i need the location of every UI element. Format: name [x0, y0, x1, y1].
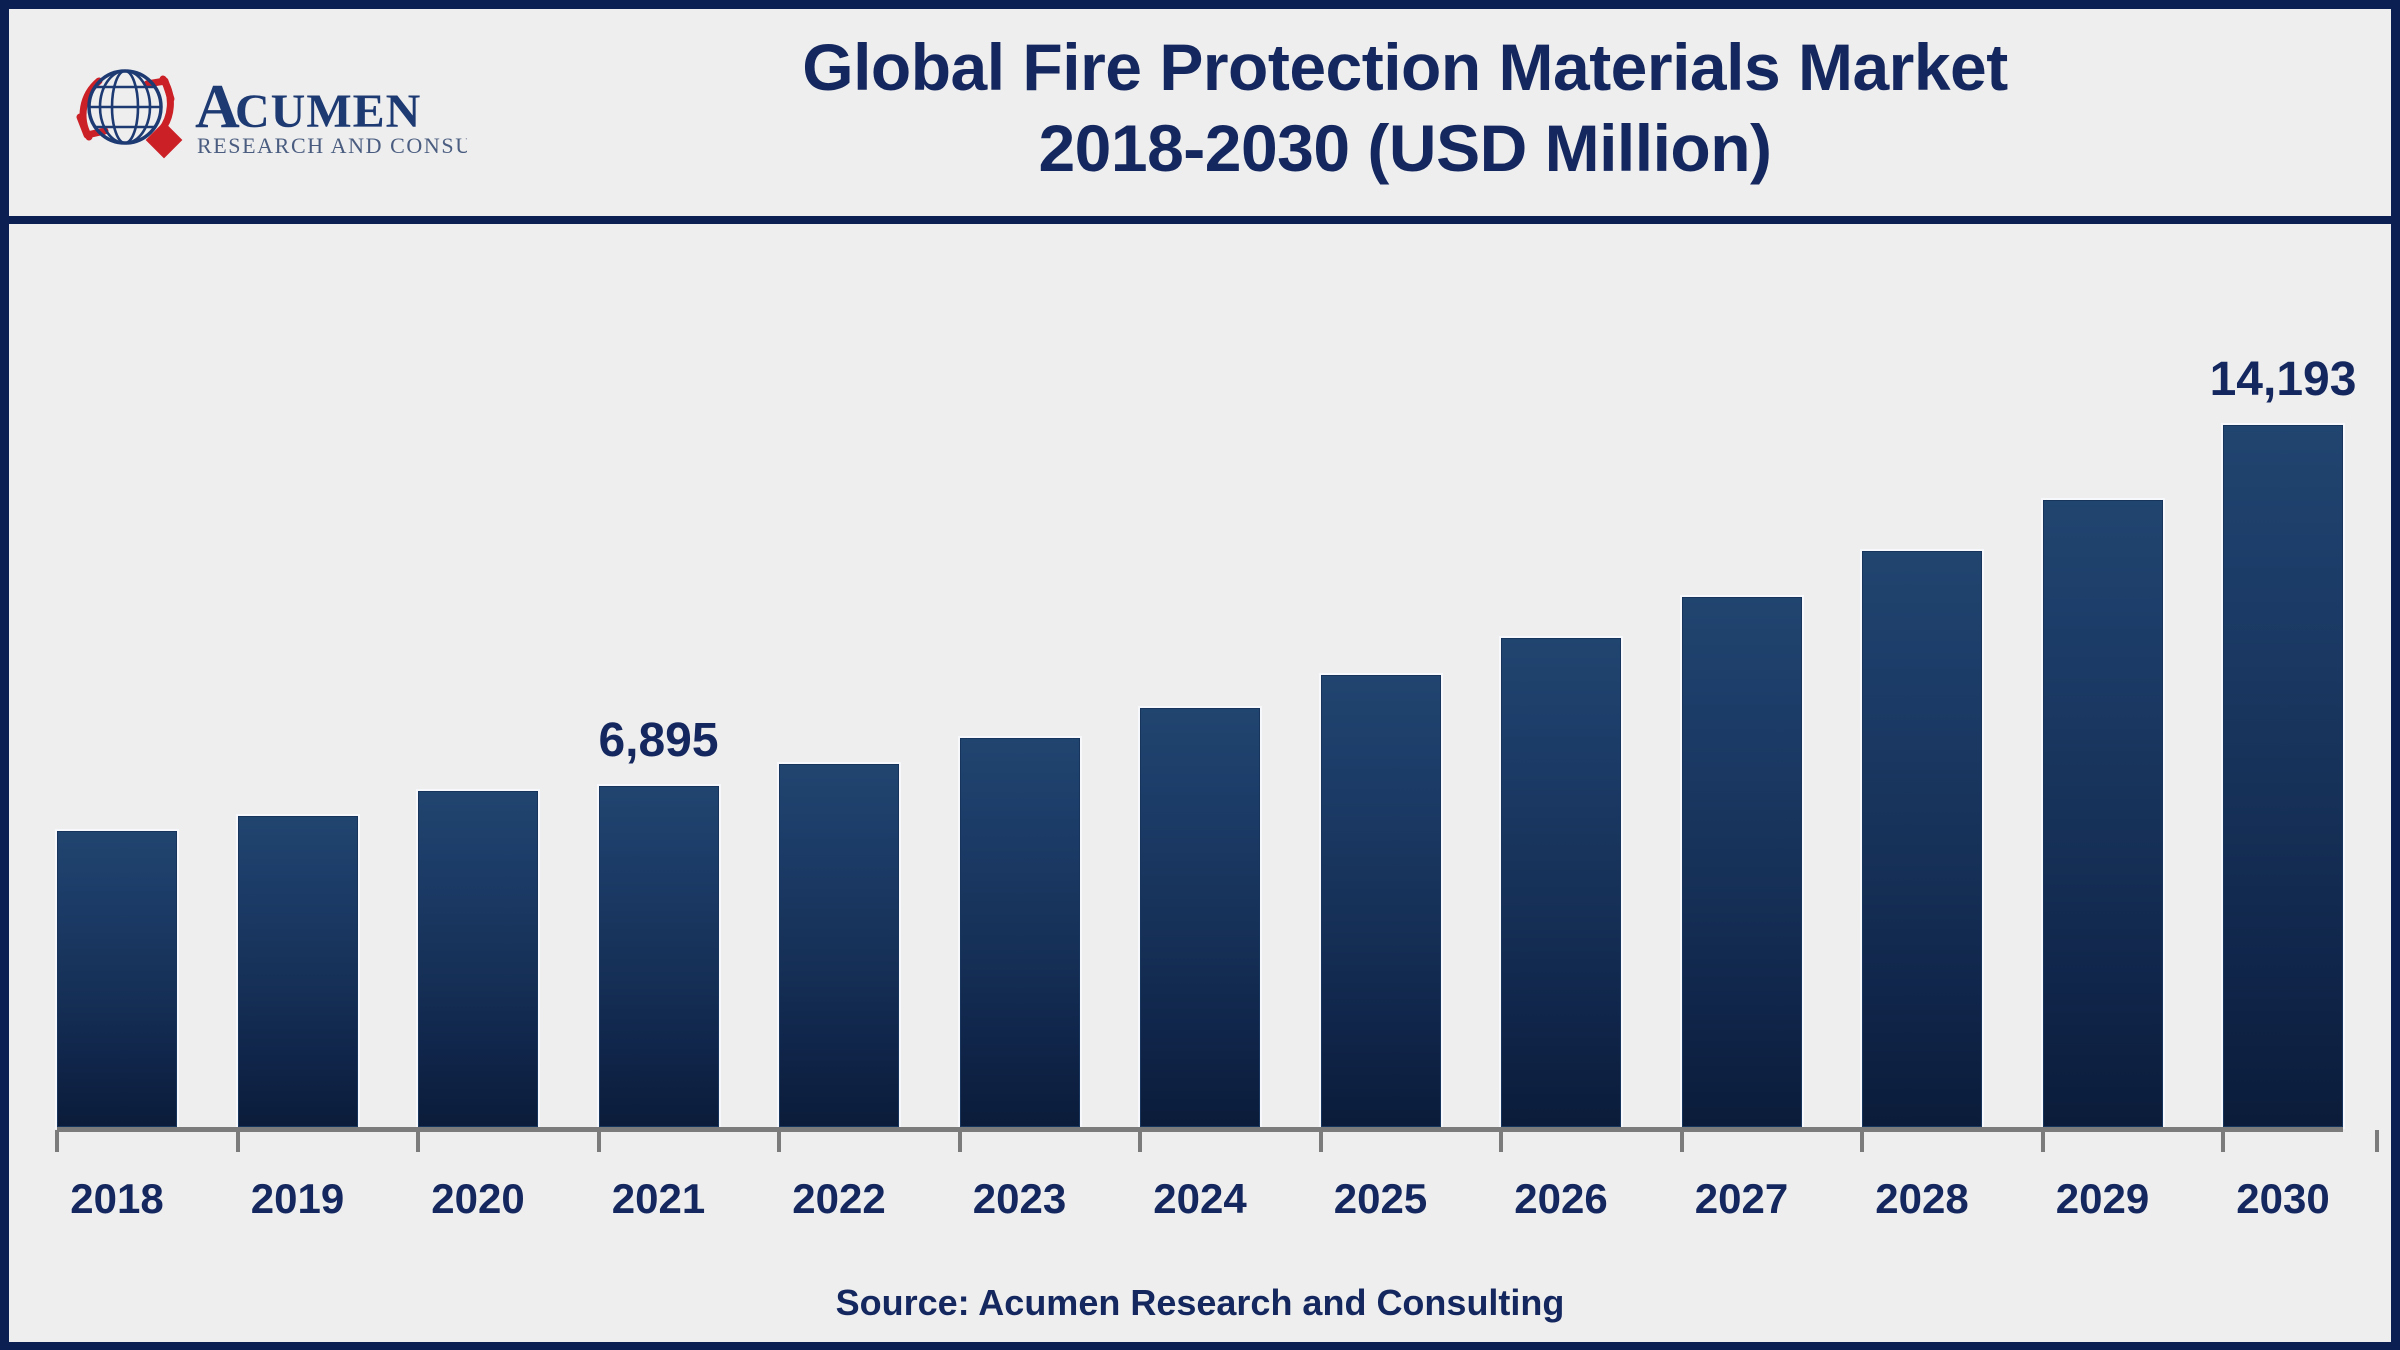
x-axis-label-2022: 2022	[739, 1169, 939, 1229]
svg-text:RESEARCH AND CONSULTING: RESEARCH AND CONSULTING	[197, 133, 467, 158]
bar-value-label-2030: 14,193	[2163, 352, 2400, 407]
bar-rect	[238, 816, 358, 1127]
x-tick-2023	[958, 1130, 962, 1152]
bar-2019	[238, 816, 358, 1127]
bar-rect	[1682, 597, 1802, 1127]
header-divider	[9, 216, 2391, 224]
x-axis-label-2019: 2019	[198, 1169, 398, 1229]
chart-area: 6,89514,193 2018201920202021202220232024…	[9, 224, 2391, 1342]
x-tick-2020	[416, 1130, 420, 1152]
x-axis-label-2026: 2026	[1461, 1169, 1661, 1229]
x-tick-2030	[2221, 1130, 2225, 1152]
title-line-2: 2018-2030 (USD Million)	[479, 108, 2331, 189]
x-tick-2025	[1319, 1130, 1323, 1152]
chart-infographic: A CUMEN RESEARCH AND CONSULTING Global F…	[0, 0, 2400, 1350]
x-tick-2018	[55, 1130, 59, 1152]
x-axis-label-2023: 2023	[920, 1169, 1120, 1229]
bar-rect	[1321, 675, 1441, 1127]
bar-rect	[1501, 638, 1621, 1127]
x-tick-2029	[2041, 1130, 2045, 1152]
x-axis-label-2020: 2020	[378, 1169, 578, 1229]
bar-2018	[57, 831, 177, 1127]
x-tick-2019	[236, 1130, 240, 1152]
x-tick-2028	[1860, 1130, 1864, 1152]
x-tick-2024	[1138, 1130, 1142, 1152]
x-axis-label-2021: 2021	[559, 1169, 759, 1229]
x-axis-label-2028: 2028	[1822, 1169, 2022, 1229]
x-tick-end	[2375, 1130, 2379, 1152]
title-line-1: Global Fire Protection Materials Market	[479, 27, 2331, 108]
acumen-globe-logo: A CUMEN RESEARCH AND CONSULTING	[67, 51, 467, 181]
x-axis-label-2030: 2030	[2183, 1169, 2383, 1229]
bar-rect	[2043, 500, 2163, 1127]
bar-rect	[57, 831, 177, 1127]
bar-2022	[779, 764, 899, 1127]
x-axis-ticks	[57, 1130, 2343, 1152]
x-axis-label-2025: 2025	[1281, 1169, 1481, 1229]
bar-rect	[779, 764, 899, 1127]
bar-2026	[1501, 638, 1621, 1127]
bar-2020	[418, 791, 538, 1127]
bar-rect	[2223, 425, 2343, 1127]
x-axis-labels: 2018201920202021202220232024202520262027…	[57, 1169, 2343, 1229]
bar-2029	[2043, 500, 2163, 1127]
bar-2025	[1321, 675, 1441, 1127]
x-axis-label-2029: 2029	[2003, 1169, 2203, 1229]
bar-rect	[599, 786, 719, 1127]
bar-2030: 14,193	[2223, 425, 2343, 1127]
bar-2028	[1862, 551, 1982, 1127]
bar-value-label-2021: 6,895	[539, 713, 779, 768]
x-tick-2021	[597, 1130, 601, 1152]
bar-2023	[960, 738, 1080, 1127]
bar-2024	[1140, 708, 1260, 1127]
bar-rect	[1140, 708, 1260, 1127]
x-axis-label-2018: 2018	[17, 1169, 217, 1229]
bar-rect	[418, 791, 538, 1127]
bar-2027	[1682, 597, 1802, 1127]
source-note: Source: Acumen Research and Consulting	[9, 1282, 2391, 1324]
bar-chart-plot: 6,89514,193 2018201920202021202220232024…	[57, 224, 2343, 1309]
bar-rect	[960, 738, 1080, 1127]
x-tick-2022	[777, 1130, 781, 1152]
bar-series: 6,89514,193	[57, 224, 2343, 1127]
page-title: Global Fire Protection Materials Market …	[479, 27, 2331, 188]
header: A CUMEN RESEARCH AND CONSULTING Global F…	[9, 9, 2391, 224]
bar-rect	[1862, 551, 1982, 1127]
x-axis-label-2027: 2027	[1642, 1169, 1842, 1229]
x-tick-2026	[1499, 1130, 1503, 1152]
svg-text:CUMEN: CUMEN	[235, 85, 421, 138]
bar-2021: 6,895	[599, 786, 719, 1127]
x-tick-2027	[1680, 1130, 1684, 1152]
x-axis-label-2024: 2024	[1100, 1169, 1300, 1229]
svg-text:A: A	[195, 73, 241, 141]
